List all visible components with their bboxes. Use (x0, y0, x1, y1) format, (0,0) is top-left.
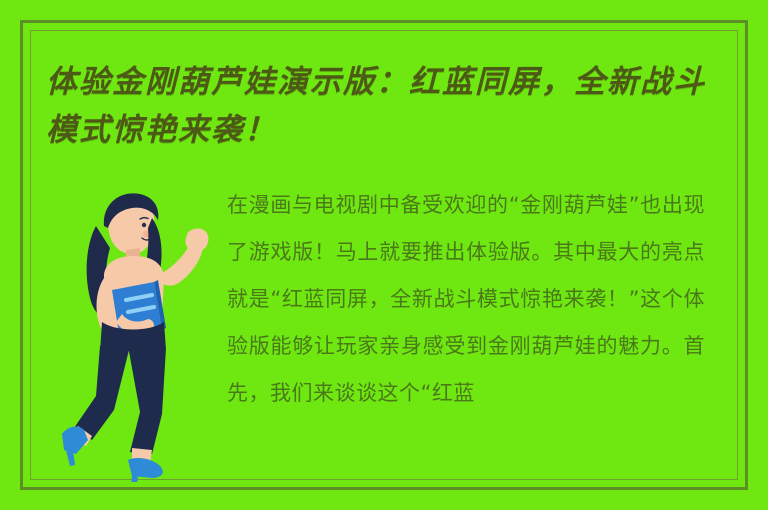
page-title: 体验金刚葫芦娃演示版：红蓝同屏，全新战斗模式惊艳来袭！ (46, 58, 732, 154)
poster-canvas: 体验金刚葫芦娃演示版：红蓝同屏，全新战斗模式惊艳来袭！ (0, 0, 768, 510)
article-body-text: 在漫画与电视剧中备受欢迎的“金刚葫芦娃”也出现了游戏版！马上就要推出体验版。其中… (227, 182, 705, 482)
woman-walking-with-book-illustration (56, 182, 224, 482)
